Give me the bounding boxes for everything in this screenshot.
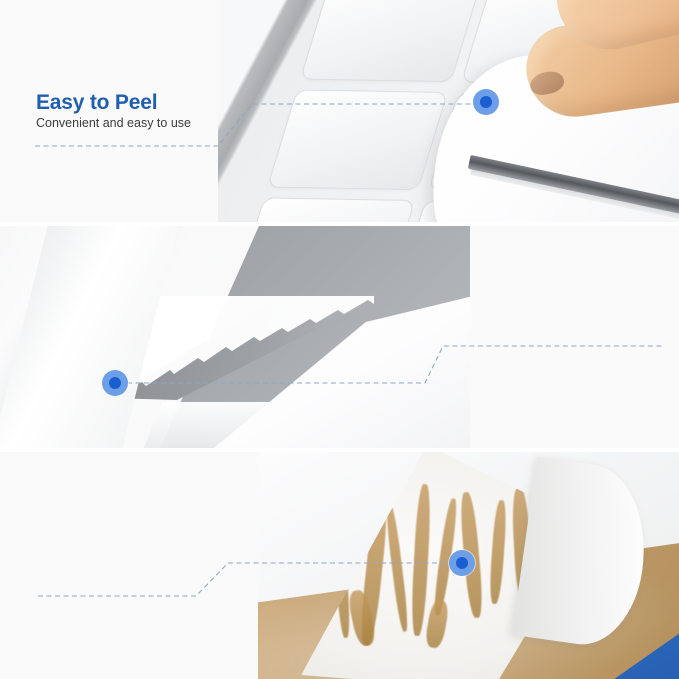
adhesive-fiber bbox=[488, 500, 507, 605]
callout-dot-easy-to-tear-off bbox=[102, 370, 128, 396]
photo-easy-to-tear-off bbox=[0, 226, 470, 448]
callout-dot-easy-to-peel bbox=[473, 89, 499, 115]
callout-dot-strong-adhesive bbox=[449, 550, 475, 576]
adhesive-fiber bbox=[384, 502, 410, 632]
photo-easy-to-peel bbox=[218, 0, 679, 222]
adhesive-fiber bbox=[424, 599, 450, 649]
label-tile bbox=[301, 0, 479, 81]
label-tile bbox=[235, 198, 413, 222]
panel-easy-to-tear-off: Easy to Tear Off Tear line facilitates t… bbox=[0, 226, 679, 448]
callout-easy-to-peel: Easy to Peel Convenient and easy to use bbox=[36, 90, 191, 131]
panel-easy-to-peel: Easy to Peel Convenient and easy to use bbox=[0, 0, 679, 222]
label-tile bbox=[268, 90, 446, 189]
hand-graphic bbox=[490, 0, 679, 220]
callout-title: Easy to Peel bbox=[36, 90, 191, 115]
callout-subtitle-line: Convenient and easy to use bbox=[36, 115, 191, 131]
panel-strong-adhesive: Strong Adhesive Strong stickiness and no… bbox=[0, 452, 679, 679]
infographic-canvas: Easy to Peel Convenient and easy to use … bbox=[0, 0, 679, 679]
